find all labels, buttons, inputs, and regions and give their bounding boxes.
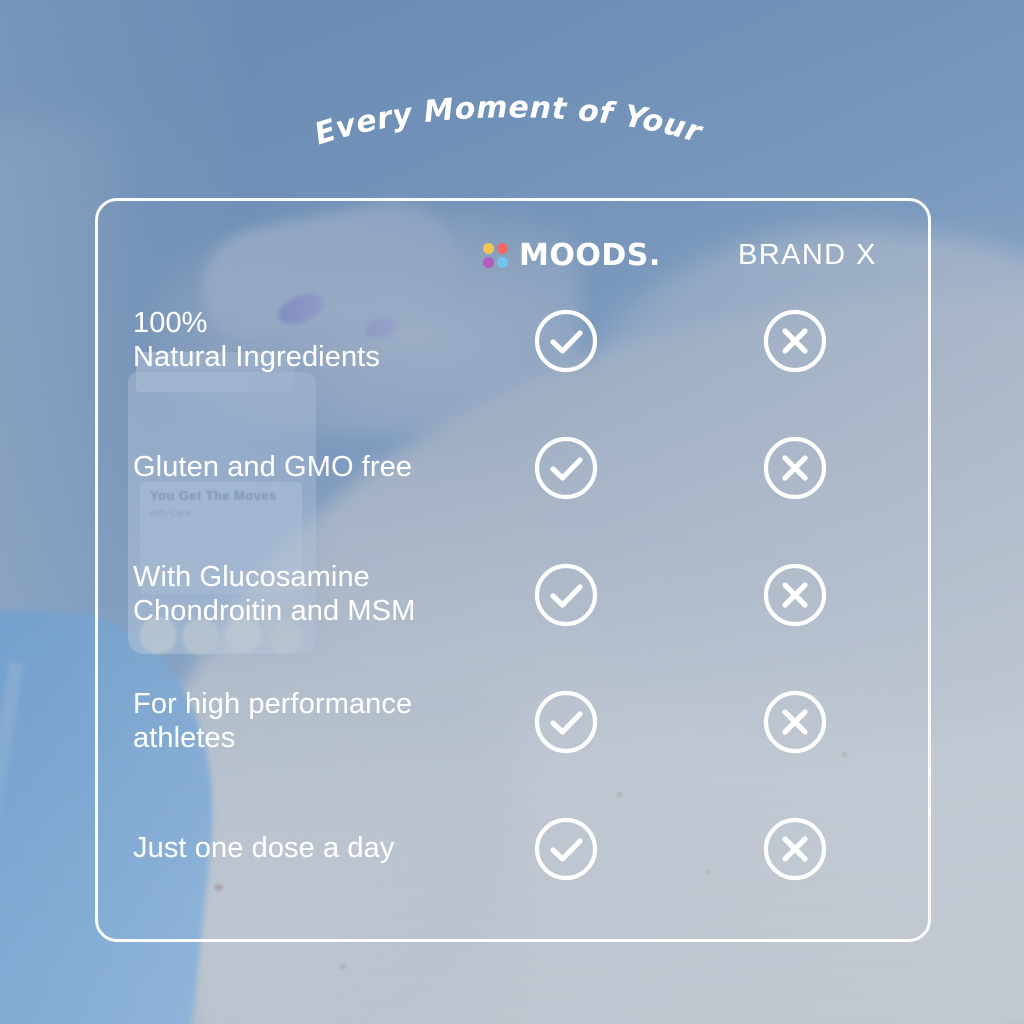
comparison-rows: 100% Natural Ingredients Gluten and GMO …	[98, 277, 928, 912]
column-header-moods: MOODS.	[483, 233, 661, 277]
table-row: 100% Natural Ingredients	[98, 277, 928, 404]
feature-label: For high performance athletes	[133, 688, 412, 756]
check-circle-icon	[533, 562, 599, 628]
column-header-brandx: BRAND X	[738, 233, 877, 277]
logo-dot-purple	[483, 257, 494, 268]
x-circle-icon	[762, 689, 828, 755]
table-row: Gluten and GMO free	[98, 404, 928, 531]
feature-label: With Glucosamine Chondroitin and MSM	[133, 561, 415, 629]
table-row: With Glucosamine Chondroitin and MSM	[98, 531, 928, 658]
moods-wordmark: MOODS.	[519, 238, 661, 273]
logo-dot-yellow	[483, 243, 494, 254]
feature-label: 100% Natural Ingredients	[133, 307, 380, 375]
table-row: Just one dose a day	[98, 785, 928, 912]
x-circle-icon	[762, 816, 828, 882]
check-circle-icon	[533, 816, 599, 882]
comparison-card: MOODS. BRAND X 100% Natural Ingredients …	[95, 198, 931, 942]
x-circle-icon	[762, 435, 828, 501]
logo-dot-red	[497, 243, 508, 254]
ad-creative-canvas: You Get The Moves with Care For Every Mo…	[0, 0, 1024, 1024]
feature-label: Just one dose a day	[133, 832, 394, 866]
feature-label: Gluten and GMO free	[133, 451, 412, 485]
table-row: For high performance athletes	[98, 658, 928, 785]
brandx-wordmark: BRAND X	[738, 239, 877, 272]
logo-dot-blue	[497, 257, 508, 268]
x-circle-icon	[762, 308, 828, 374]
headline-curved: For Every Moment of Your day	[0, 42, 1024, 182]
check-circle-icon	[533, 689, 599, 755]
moods-logo-dots-icon	[483, 243, 508, 268]
check-circle-icon	[533, 308, 599, 374]
x-circle-icon	[762, 562, 828, 628]
check-circle-icon	[533, 435, 599, 501]
